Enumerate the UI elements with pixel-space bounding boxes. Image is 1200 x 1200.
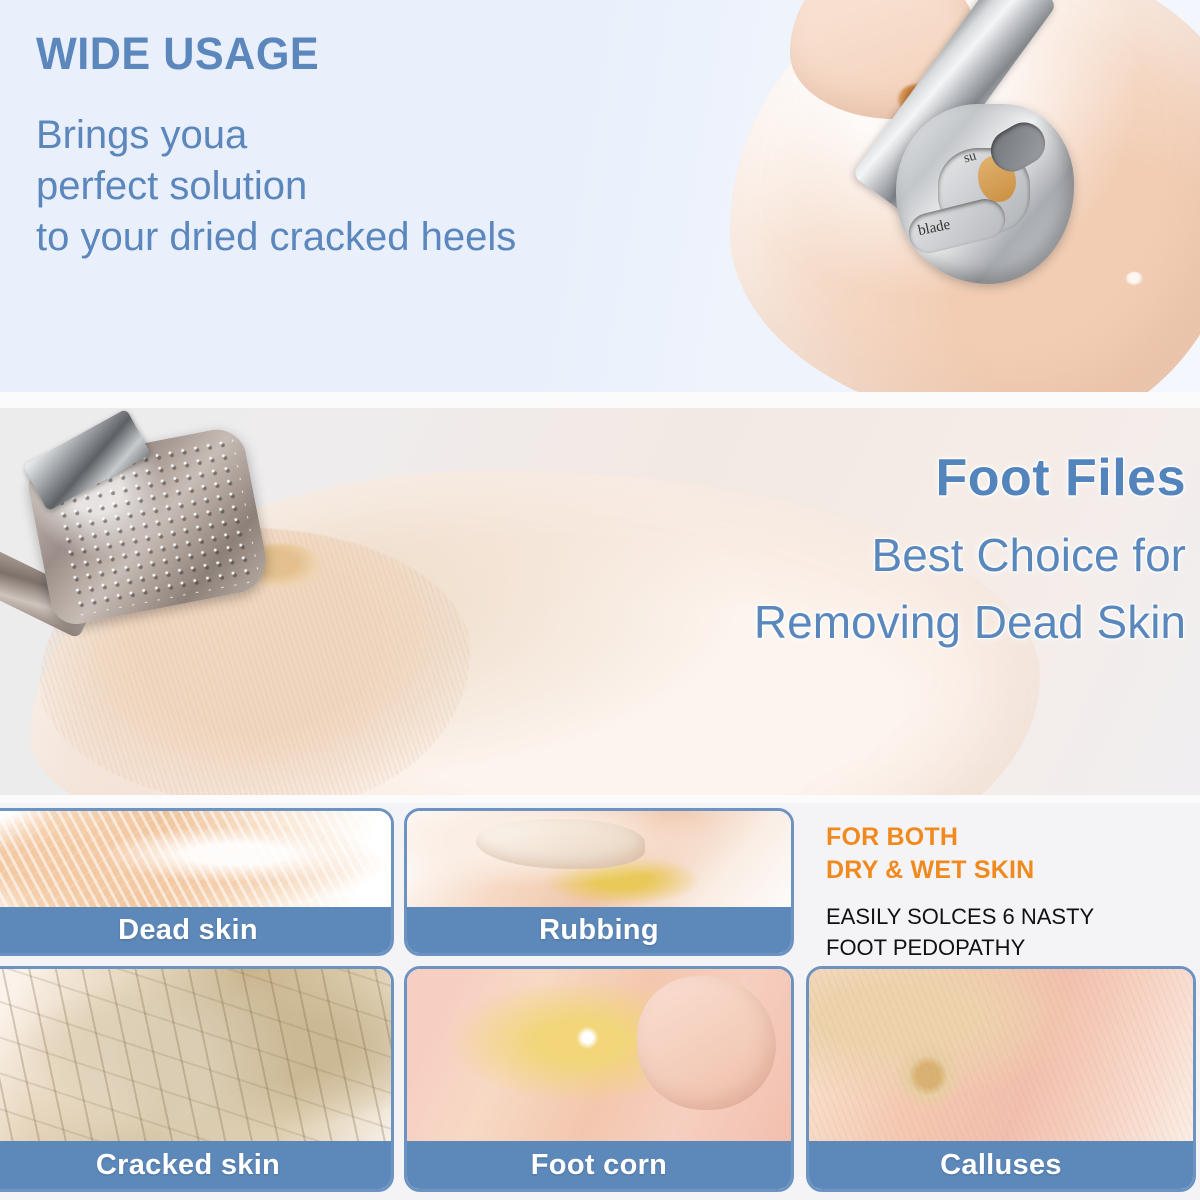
grid-callout-orange: FOR BOTH DRY & WET SKIN	[826, 821, 1186, 886]
condition-photo-foot-corn	[407, 969, 791, 1141]
calluses-image	[809, 969, 1193, 1141]
callus-shaver-tool: su blade	[878, 8, 1198, 338]
section-foot-files: Foot Files Best Choice for Removing Dead…	[0, 408, 1200, 795]
grid-callout-black: EASILY SOLCES 6 NASTY FOOT PEDOPATHY	[826, 902, 1186, 964]
grid-callout: FOR BOTH DRY & WET SKIN EASILY SOLCES 6 …	[826, 821, 1186, 964]
condition-label-foot-corn: Foot corn	[407, 1141, 791, 1189]
condition-photo-calluses	[809, 969, 1193, 1141]
condition-card-foot-corn[interactable]: Foot corn	[404, 966, 794, 1192]
grid-callout-orange-line-2: DRY & WET SKIN	[826, 854, 1186, 887]
wide-usage-subtitle-line-1: Brings youa	[36, 110, 736, 161]
foot-files-line-1: Best Choice for	[566, 525, 1186, 586]
product-banner: su blade WIDE USAGE Brings youa perfect …	[0, 0, 1200, 1200]
foot-corn-image	[407, 969, 791, 1141]
wide-usage-title: WIDE USAGE	[36, 30, 708, 77]
foot-files-copy: Foot Files Best Choice for Removing Dead…	[566, 450, 1186, 653]
condition-card-calluses[interactable]: Calluses	[806, 966, 1196, 1192]
dead-skin-image	[0, 811, 391, 907]
condition-photo-cracked-skin	[0, 969, 391, 1141]
wide-usage-subtitle: Brings youa perfect solution to your dri…	[36, 110, 736, 262]
wide-usage-subtitle-line-3: to your dried cracked heels	[36, 212, 736, 263]
foot-files-line-2: Removing Dead Skin	[566, 592, 1186, 653]
grid-callout-black-line-1: EASILY SOLCES 6 NASTY	[826, 902, 1186, 933]
condition-card-cracked-skin[interactable]: Cracked skin	[0, 966, 394, 1192]
condition-label-dead-skin: Dead skin	[0, 907, 391, 953]
rubbing-image	[407, 811, 791, 907]
section-wide-usage: su blade WIDE USAGE Brings youa perfect …	[0, 0, 1200, 392]
condition-label-calluses: Calluses	[809, 1141, 1193, 1189]
foot-files-title: Foot Files	[566, 450, 1186, 507]
cracked-skin-image	[0, 969, 391, 1141]
grid-callout-orange-line-1: FOR BOTH	[826, 821, 1186, 854]
condition-photo-rubbing	[407, 811, 791, 907]
condition-card-rubbing[interactable]: Rubbing	[404, 808, 794, 956]
condition-card-dead-skin[interactable]: Dead skin	[0, 808, 394, 956]
wide-usage-subtitle-line-2: perfect solution	[36, 161, 736, 212]
grid-callout-black-line-2: FOOT PEDOPATHY	[826, 933, 1186, 964]
condition-label-cracked-skin: Cracked skin	[0, 1141, 391, 1189]
condition-label-rubbing: Rubbing	[407, 907, 791, 953]
wide-usage-copy: WIDE USAGE Brings youa perfect solution …	[36, 30, 736, 263]
condition-photo-dead-skin	[0, 811, 391, 907]
section-condition-grid: Dead skin Rubbing Cracked skin Foot corn	[0, 803, 1200, 1200]
foot-rasp-tool	[0, 416, 296, 676]
